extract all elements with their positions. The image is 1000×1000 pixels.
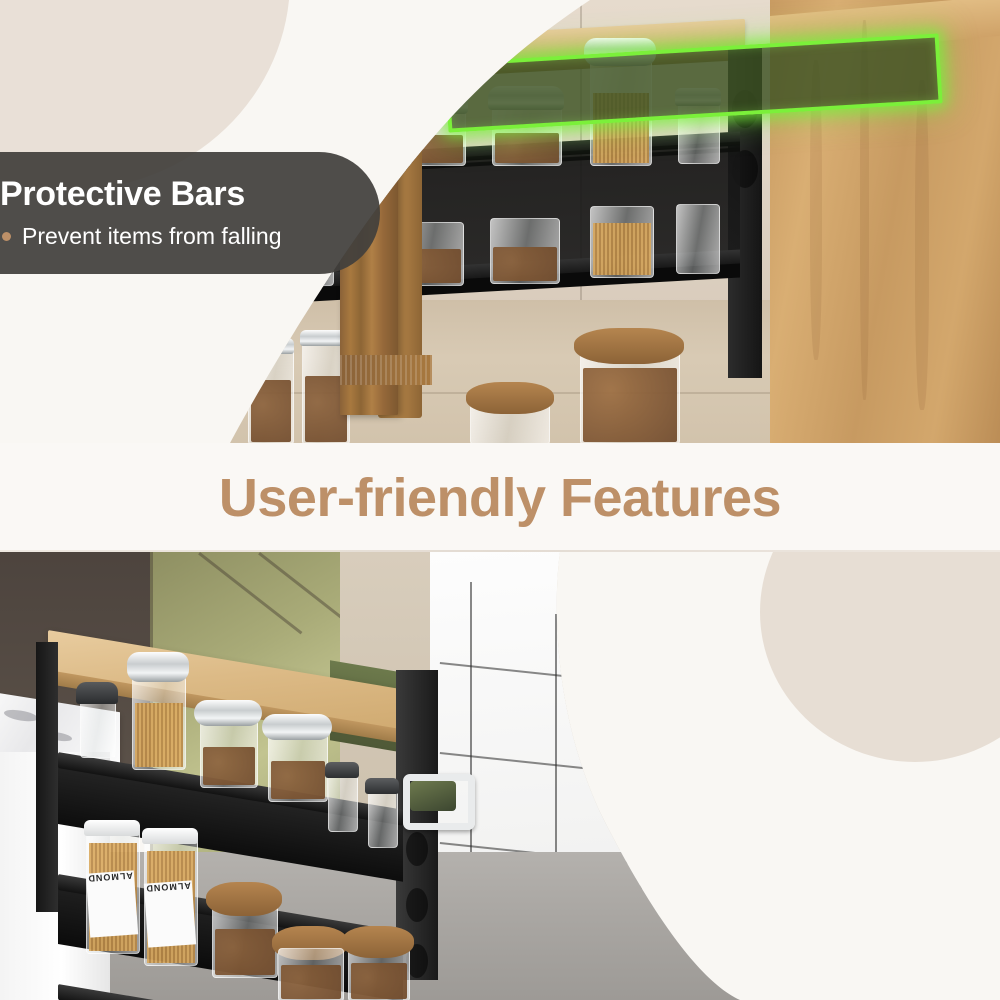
towel-fringe [340, 355, 432, 385]
chrome-lid [127, 652, 189, 682]
glass-jar [268, 734, 328, 802]
chrome-lid [246, 338, 294, 354]
almond-jar-label: ALMOND [144, 880, 196, 947]
chrome-lid [262, 714, 332, 740]
jar-lid [84, 820, 140, 836]
decor-blob-bottom-right [760, 552, 1000, 762]
wood-lid [206, 882, 282, 916]
feature-panel-bottom: ALMOND ALMOND [0, 552, 1000, 1000]
chrome-handle [368, 100, 440, 117]
wood-lid [342, 926, 414, 958]
callout-bullet: Prevent items from falling [0, 222, 380, 250]
frame-perforation [406, 832, 428, 866]
callout-heading: Protective Bars [0, 176, 380, 213]
glass-jar [676, 204, 720, 274]
wood-lid [466, 382, 554, 414]
chrome-handle-loop [403, 774, 475, 830]
almond-jar-label: ALMOND [86, 870, 138, 937]
page-title: User-friendly Features [219, 467, 781, 529]
chrome-lid [394, 90, 468, 114]
pasta-jar [590, 206, 654, 278]
glass-jar [490, 218, 560, 284]
jar-lid [142, 828, 198, 844]
spice-shaker [328, 774, 358, 832]
callout-bullet-list: Prevent items from falling [0, 222, 380, 250]
frame-perforation [406, 888, 428, 922]
glass-jar [200, 720, 258, 788]
spice-shaker-lid [250, 110, 284, 124]
spice-shaker [80, 698, 116, 758]
pasta-jar [132, 676, 186, 770]
dark-lid [365, 778, 399, 794]
spice-shaker [368, 790, 398, 848]
wood-lid [574, 328, 684, 364]
wood-grain [915, 80, 929, 410]
nut-jar [278, 948, 344, 1000]
cart-frame-back [36, 642, 58, 912]
glass-jar [248, 348, 294, 443]
feature-panel-top: Protective Bars Prevent items from falli… [0, 0, 1000, 443]
chrome-lid [194, 700, 262, 726]
callout-protective-bars: Protective Bars Prevent items from falli… [0, 152, 380, 274]
dark-lid [325, 762, 359, 778]
infographic-canvas: Protective Bars Prevent items from falli… [0, 0, 1000, 1000]
dark-lid [76, 682, 118, 704]
spice-shaker-lid [296, 105, 332, 120]
section-title-band: User-friendly Features [0, 443, 1000, 552]
